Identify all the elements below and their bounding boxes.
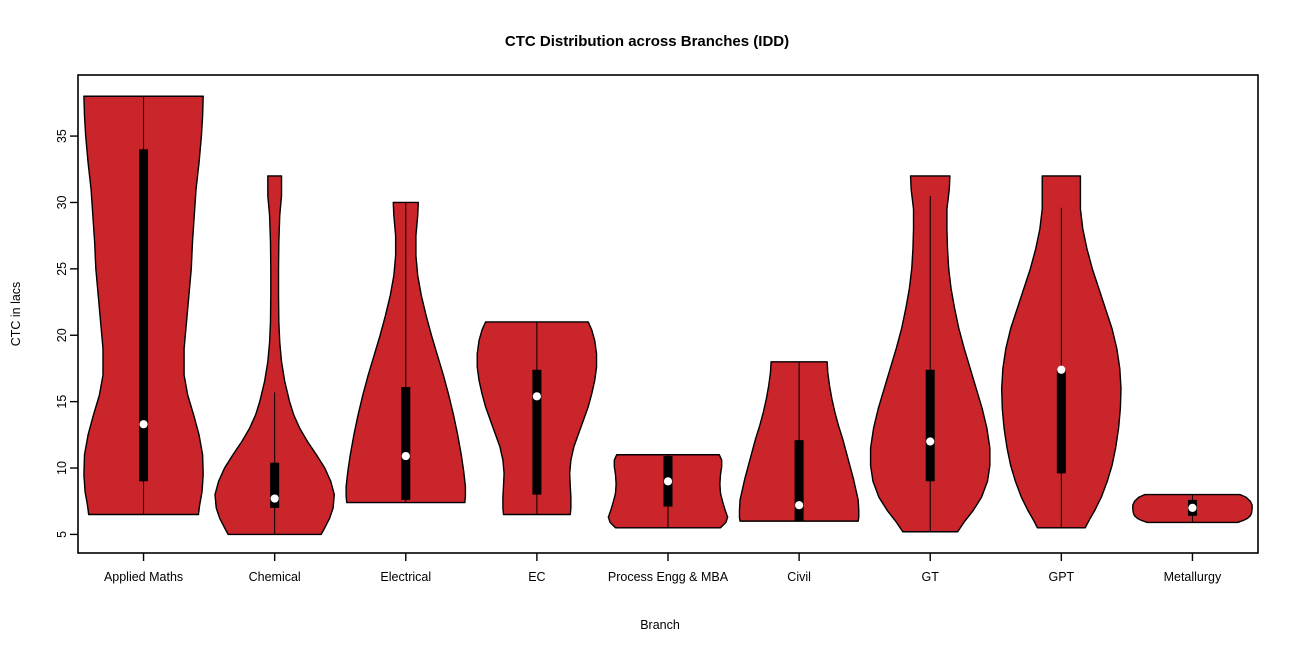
iqr-box [926, 370, 935, 482]
median-marker [795, 501, 803, 509]
median-marker [664, 477, 672, 485]
y-tick-label: 10 [55, 461, 69, 475]
violin-metallurgy [1133, 495, 1252, 523]
x-tick-label: GT [922, 570, 940, 584]
y-axis-title: CTC in lacs [9, 282, 23, 347]
median-marker [1057, 366, 1065, 374]
median-marker [926, 437, 934, 445]
median-marker [139, 420, 147, 428]
x-axis-title: Branch [640, 618, 680, 632]
y-tick-label: 30 [55, 195, 69, 209]
x-tick-label: Metallurgy [1164, 570, 1222, 584]
violin-plot-canvas: CTC Distribution across Branches (IDD) 5… [0, 0, 1294, 653]
x-tick-label: GPT [1048, 570, 1074, 584]
y-tick-label: 25 [55, 262, 69, 276]
median-marker [1188, 504, 1196, 512]
iqr-box [139, 149, 148, 481]
x-tick-label: Civil [787, 570, 811, 584]
median-marker [402, 452, 410, 460]
chart-figure: CTC Distribution across Branches (IDD) 5… [0, 0, 1294, 653]
x-tick-label: Process Engg & MBA [608, 570, 729, 584]
median-marker [533, 392, 541, 400]
x-tick-label: Electrical [380, 570, 431, 584]
median-marker [271, 494, 279, 502]
violin-applied-maths [84, 96, 203, 514]
iqr-box [532, 370, 541, 495]
iqr-box [1057, 370, 1066, 474]
y-tick-label: 5 [55, 531, 69, 538]
y-tick-label: 15 [55, 395, 69, 409]
violin-process-engg-mba [608, 455, 727, 528]
x-tick-label: EC [528, 570, 545, 584]
x-tick-label: Chemical [249, 570, 301, 584]
y-tick-label: 35 [55, 129, 69, 143]
iqr-box [401, 387, 410, 500]
chart-title: CTC Distribution across Branches (IDD) [505, 33, 789, 50]
y-tick-label: 20 [55, 328, 69, 342]
x-tick-label: Applied Maths [104, 570, 183, 584]
